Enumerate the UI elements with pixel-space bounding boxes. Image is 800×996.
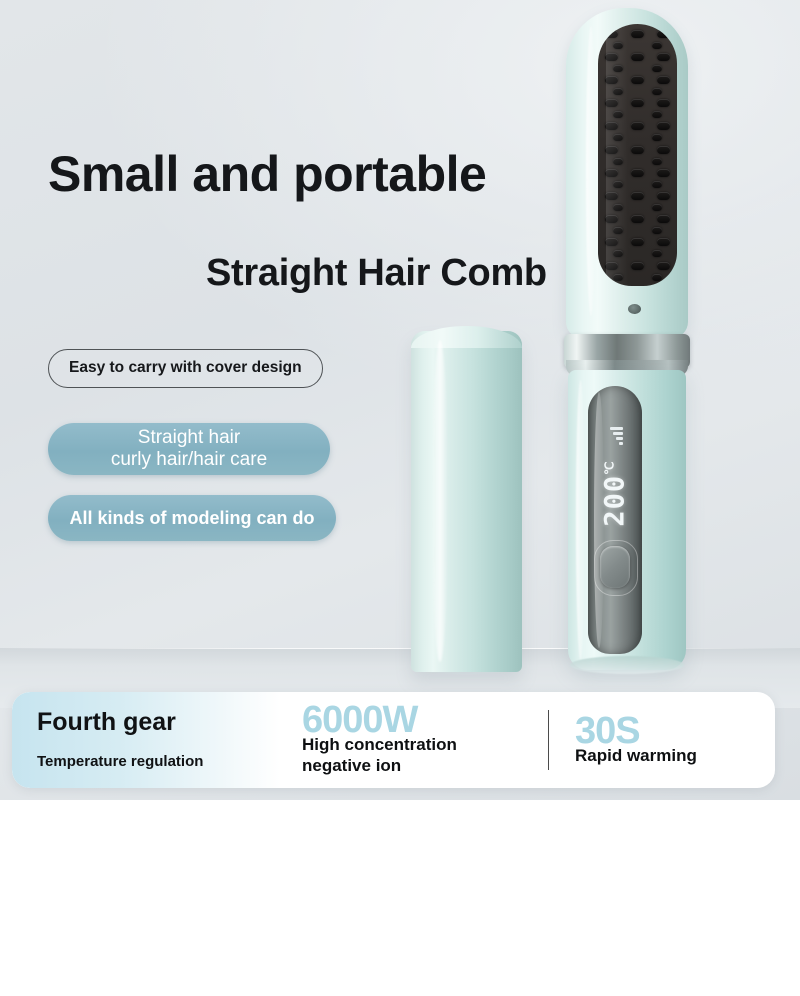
handle-highlight [576,380,585,660]
control-panel: 200℃ [588,386,642,654]
spec-bar: Fourth gear Temperature regulation 6000W… [12,692,775,788]
feature-pill-cover-design[interactable]: Easy to carry with cover design [48,349,323,388]
headline-primary: Small and portable [48,145,486,203]
lcd-display: 200℃ [588,416,642,536]
spec-cell-warmup: 30S Rapid warming [549,692,775,788]
spec-cell-gear: Fourth gear Temperature regulation [12,692,280,788]
temperature-unit: ℃ [603,460,617,474]
plate-gloss [606,24,628,286]
spec-power-caption: High concentration negative ion [302,735,548,776]
handle-base-shadow [570,656,684,674]
spec-gear-caption: Temperature regulation [37,753,280,771]
spec-power-caption-line1: High concentration [302,735,457,754]
spec-warmup-value: 30S [575,714,775,748]
protective-cap [411,331,522,672]
cap-highlight [432,340,448,662]
advertisement-canvas: Small and portable Straight Hair Comb Ea… [0,0,800,800]
spec-power-value: 6000W [302,703,548,737]
comb-bristle-plate [598,24,677,286]
spec-gear-title: Fourth gear [37,710,280,735]
spec-cell-power: 6000W High concentration negative ion [280,692,548,788]
comb-head [566,8,688,338]
spec-power-caption-line2: negative ion [302,756,401,775]
power-button[interactable] [600,546,630,588]
signal-bars-icon [607,427,623,445]
ion-outlet-icon [628,304,641,314]
feature-pill-hair-modes-line1: Straight hair [111,427,267,449]
straight-hair-comb-product: 200℃ [552,8,700,680]
temperature-readout: 200℃ [600,460,631,526]
head-highlight [586,26,596,316]
cap-top-ellipse [411,326,522,348]
feature-pill-hair-modes-line2: curly hair/hair care [111,449,267,471]
headline-secondary: Straight Hair Comb [206,252,547,295]
temperature-value: 200 [600,475,631,527]
feature-pill-hair-modes[interactable]: Straight hair curly hair/hair care [48,423,330,475]
feature-pill-modeling[interactable]: All kinds of modeling can do [48,495,336,541]
spec-warmup-caption: Rapid warming [575,746,775,767]
